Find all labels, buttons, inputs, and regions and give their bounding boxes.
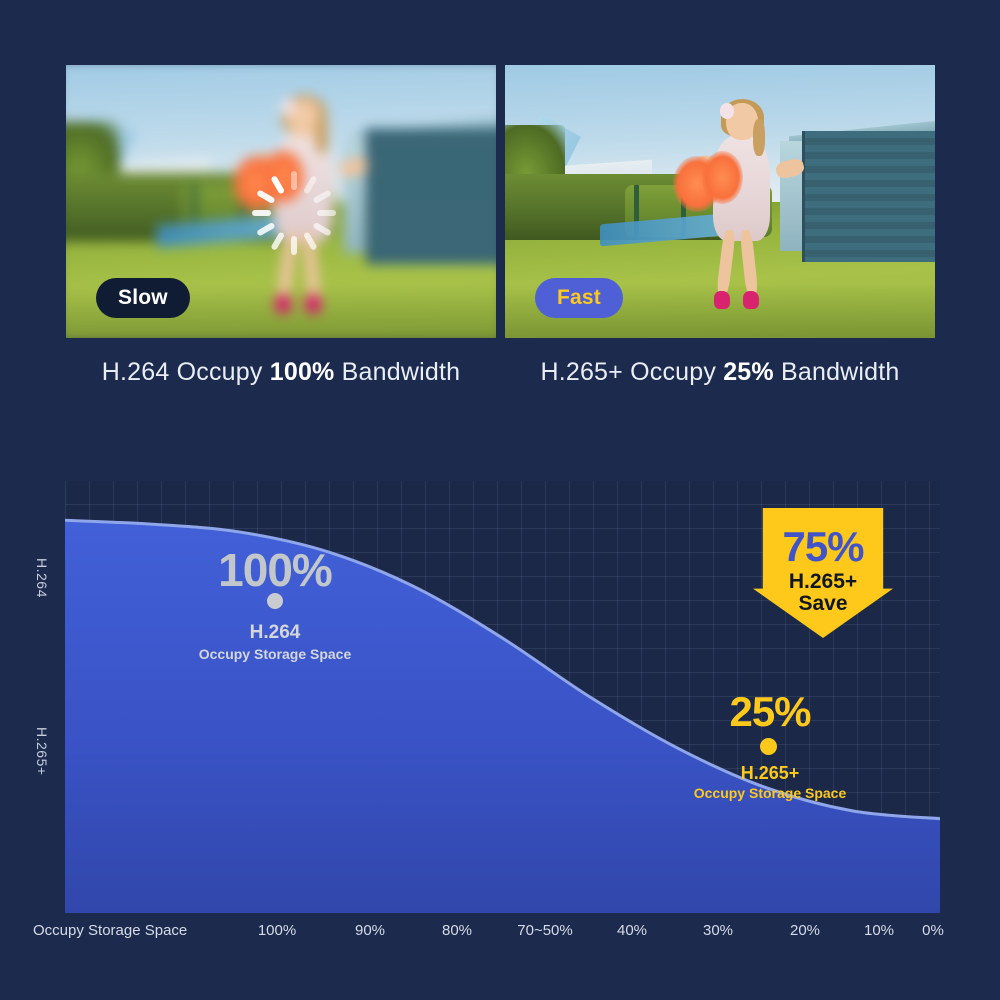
photo-comparison-row: Slow [0, 65, 1000, 345]
annotation-h264-value: 100% [218, 543, 332, 597]
marker-h265 [760, 738, 777, 755]
x-axis: Occupy Storage Space 100% 90% 80% 70~50%… [0, 922, 1000, 952]
girl-shoe-right [305, 295, 322, 313]
girl-hair-bow [281, 99, 296, 115]
badge-slow: Slow [96, 278, 190, 318]
caption-row: H.264 Occupy 100% Bandwidth H.265+ Occup… [0, 358, 1000, 400]
caption-h265-suffix: Bandwidth [774, 358, 900, 386]
girl-subject [694, 103, 789, 321]
badge-fast: Fast [535, 278, 623, 318]
girl-hair-side [753, 119, 765, 156]
girl-shoe-left [714, 291, 730, 308]
shed [802, 131, 935, 262]
annotation-h264-title: H.264 [250, 622, 301, 644]
photo-card-h264: Slow [66, 65, 496, 338]
savings-callout-arrow: 75% H.265+ Save [753, 508, 893, 638]
x-tick-10: 10% [864, 922, 894, 939]
y-axis-label-h265: H.265+ [34, 727, 50, 776]
annotation-h264-subtitle: Occupy Storage Space [199, 646, 352, 662]
girl-leg-left [716, 229, 736, 296]
x-tick-30: 30% [703, 922, 733, 939]
x-tick-20: 20% [790, 922, 820, 939]
x-tick-0: 0% [922, 922, 944, 939]
annotation-h265-title: H.265+ [741, 763, 800, 784]
annotation-h265-subtitle: Occupy Storage Space [694, 785, 847, 801]
loading-spinner-icon [246, 165, 342, 261]
photo-card-h265: Fast [505, 65, 935, 338]
x-tick-40: 40% [617, 922, 647, 939]
girl-shoe-right [743, 291, 759, 308]
caption-h264: H.264 Occupy 100% Bandwidth [66, 358, 496, 387]
girl-shoe-left [275, 295, 292, 313]
caption-h265-value: 25% [723, 358, 774, 386]
callout-line1: H.265+ [753, 570, 893, 594]
infographic-page: Slow [0, 0, 1000, 1000]
x-tick-70-50: 70~50% [517, 922, 572, 939]
callout-line2: Save [753, 592, 893, 616]
x-tick-100: 100% [258, 922, 296, 939]
marker-h264 [267, 593, 283, 609]
caption-h264-suffix: Bandwidth [335, 358, 461, 386]
shed [366, 128, 496, 264]
girl-hair-bow [720, 103, 734, 118]
annotation-h265-value: 25% [729, 688, 810, 736]
x-tick-80: 80% [442, 922, 472, 939]
y-axis-label-h264: H.264 [34, 558, 50, 598]
girl-hair-side [315, 115, 328, 154]
caption-h265-prefix: H.265+ Occupy [540, 358, 723, 386]
caption-h264-prefix: H.264 Occupy [102, 358, 270, 386]
caption-h265: H.265+ Occupy 25% Bandwidth [505, 358, 935, 387]
pompom [702, 151, 744, 203]
caption-h264-value: 100% [270, 358, 335, 386]
callout-percent: 75% [753, 523, 893, 571]
x-tick-90: 90% [355, 922, 385, 939]
x-axis-lead-label: Occupy Storage Space [33, 922, 187, 939]
